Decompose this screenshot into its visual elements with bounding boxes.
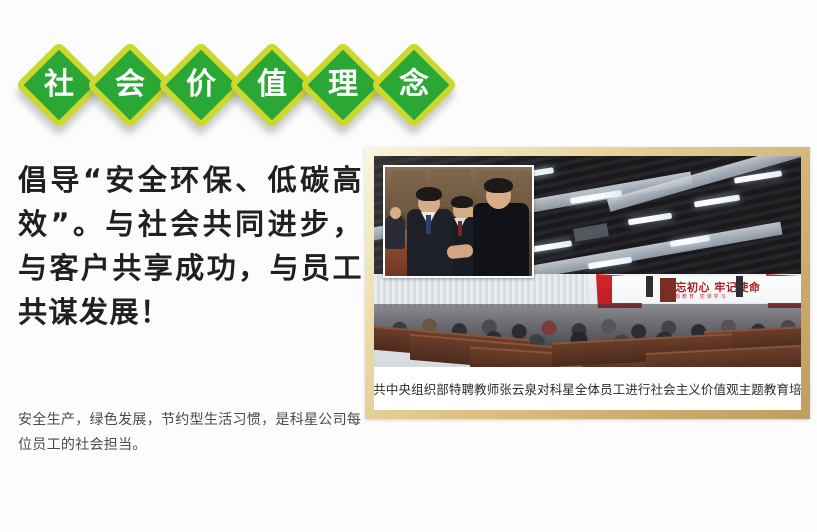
photo-caption: 中共中央组织部特聘教师张云泉对科星全体员工进行社会主义价值观主题教育培训: [374, 367, 801, 410]
page-title-band: 社 会 价 值 理 念: [28, 42, 458, 128]
title-badge-6: 念: [370, 41, 458, 129]
right-person: [473, 203, 529, 278]
middle-person-hair: [451, 196, 473, 208]
title-badge-char: 价: [176, 60, 226, 110]
title-badge-char: 值: [247, 60, 297, 110]
stage-banner-subtext: 主题教育 党课学习: [668, 293, 728, 300]
handshake-meeting-photo: [383, 165, 534, 278]
middle-person-tie: [458, 221, 462, 236]
background-person-head: [390, 207, 401, 219]
stage-speaker: [736, 276, 743, 297]
title-badge-char: 理: [318, 60, 368, 110]
title-badge-char: 社: [34, 60, 84, 110]
photo-inner: 不忘初心 牢记使命 主题教育 党课学习: [374, 156, 801, 410]
stage-banner: 不忘初心 牢记使命 主题教育 党课学习: [612, 276, 801, 303]
title-badge-char: 会: [105, 60, 155, 110]
left-person-hair: [416, 187, 442, 201]
main-statement-text: 倡导“安全环保、低碳高效”。与社会共同进步，与客户共享成功，与员工共谋发展！: [18, 158, 363, 334]
background-person: [385, 215, 405, 249]
photo-frame: 不忘初心 牢记使命 主题教育 党课学习: [365, 147, 810, 419]
sub-statement-text: 安全生产，绿色发展，节约型生活习惯，是科星公司每位员工的社会担当。: [18, 408, 370, 457]
stage-speaker: [646, 276, 653, 297]
stage-podium: [660, 278, 676, 302]
left-person-tie: [426, 215, 431, 234]
title-badge-char: 念: [389, 60, 439, 110]
right-person-hair: [484, 178, 513, 193]
